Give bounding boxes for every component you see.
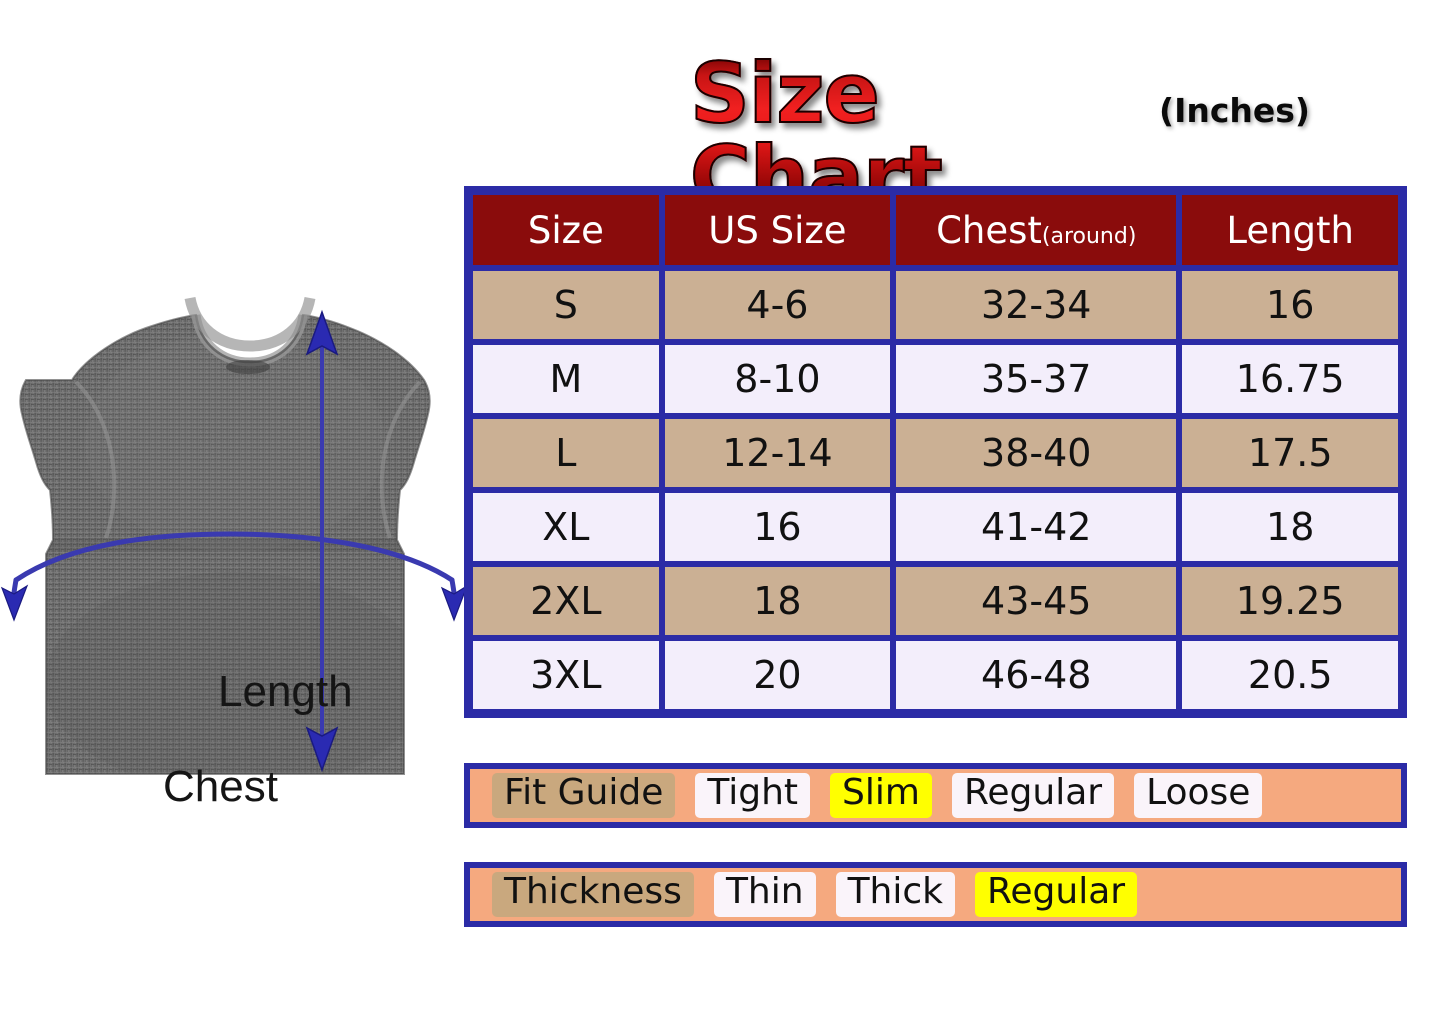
cell-chest: 41-42	[893, 490, 1179, 564]
size-chart-table: Size US Size Chest(around) Length S 4-6 …	[464, 186, 1407, 718]
cell-size: S	[470, 268, 662, 342]
column-header-chest-note: (around)	[1042, 224, 1137, 249]
cell-us-size: 20	[662, 638, 893, 712]
cell-size: XL	[470, 490, 662, 564]
fit-option-tight[interactable]: Tight	[695, 773, 810, 818]
cell-length: 19.25	[1179, 564, 1401, 638]
column-header-us-size-label: US Size	[708, 209, 846, 252]
chest-label: Chest	[163, 762, 278, 812]
column-header-chest-label: Chest	[936, 209, 1042, 252]
column-header-chest: Chest(around)	[893, 192, 1179, 268]
cell-size: 2XL	[470, 564, 662, 638]
cell-length: 18	[1179, 490, 1401, 564]
table-header-row: Size US Size Chest(around) Length	[470, 192, 1401, 268]
table-row: 3XL 20 46-48 20.5	[470, 638, 1401, 712]
thickness-option-regular[interactable]: Regular	[975, 872, 1137, 917]
page-title: Size Chart (Inches)	[690, 52, 1310, 162]
fit-option-regular[interactable]: Regular	[952, 773, 1114, 818]
thickness-option-thick[interactable]: Thick	[836, 872, 955, 917]
cell-size: M	[470, 342, 662, 416]
fit-guide-label: Fit Guide	[492, 773, 675, 818]
garment-illustration: Length Chest	[0, 262, 470, 792]
cell-chest: 32-34	[893, 268, 1179, 342]
fit-guide-box: Fit Guide Tight Slim Regular Loose	[464, 763, 1407, 828]
cell-us-size: 18	[662, 564, 893, 638]
fit-option-loose[interactable]: Loose	[1134, 773, 1262, 818]
column-header-us-size: US Size	[662, 192, 893, 268]
cell-chest: 46-48	[893, 638, 1179, 712]
cell-us-size: 12-14	[662, 416, 893, 490]
cell-us-size: 4-6	[662, 268, 893, 342]
length-label: Length	[218, 667, 353, 717]
garment-brand-tag	[226, 360, 270, 374]
fit-option-slim[interactable]: Slim	[830, 773, 932, 818]
column-header-length: Length	[1179, 192, 1401, 268]
column-header-size: Size	[470, 192, 662, 268]
cell-us-size: 8-10	[662, 342, 893, 416]
table-row: XL 16 41-42 18	[470, 490, 1401, 564]
cell-chest: 35-37	[893, 342, 1179, 416]
column-header-length-label: Length	[1226, 209, 1354, 252]
cell-chest: 43-45	[893, 564, 1179, 638]
table-row: 2XL 18 43-45 19.25	[470, 564, 1401, 638]
cell-chest: 38-40	[893, 416, 1179, 490]
thickness-label: Thickness	[492, 872, 694, 917]
cell-length: 17.5	[1179, 416, 1401, 490]
thickness-box: Thickness Thin Thick Regular	[464, 862, 1407, 927]
cell-length: 16	[1179, 268, 1401, 342]
cell-size: L	[470, 416, 662, 490]
cell-us-size: 16	[662, 490, 893, 564]
title-unit-note: (Inches)	[1159, 94, 1310, 127]
thickness-option-thin[interactable]: Thin	[714, 872, 816, 917]
cell-length: 16.75	[1179, 342, 1401, 416]
cell-size: 3XL	[470, 638, 662, 712]
table-row: S 4-6 32-34 16	[470, 268, 1401, 342]
table-row: M 8-10 35-37 16.75	[470, 342, 1401, 416]
cell-length: 20.5	[1179, 638, 1401, 712]
table-row: L 12-14 38-40 17.5	[470, 416, 1401, 490]
column-header-size-label: Size	[528, 209, 604, 252]
